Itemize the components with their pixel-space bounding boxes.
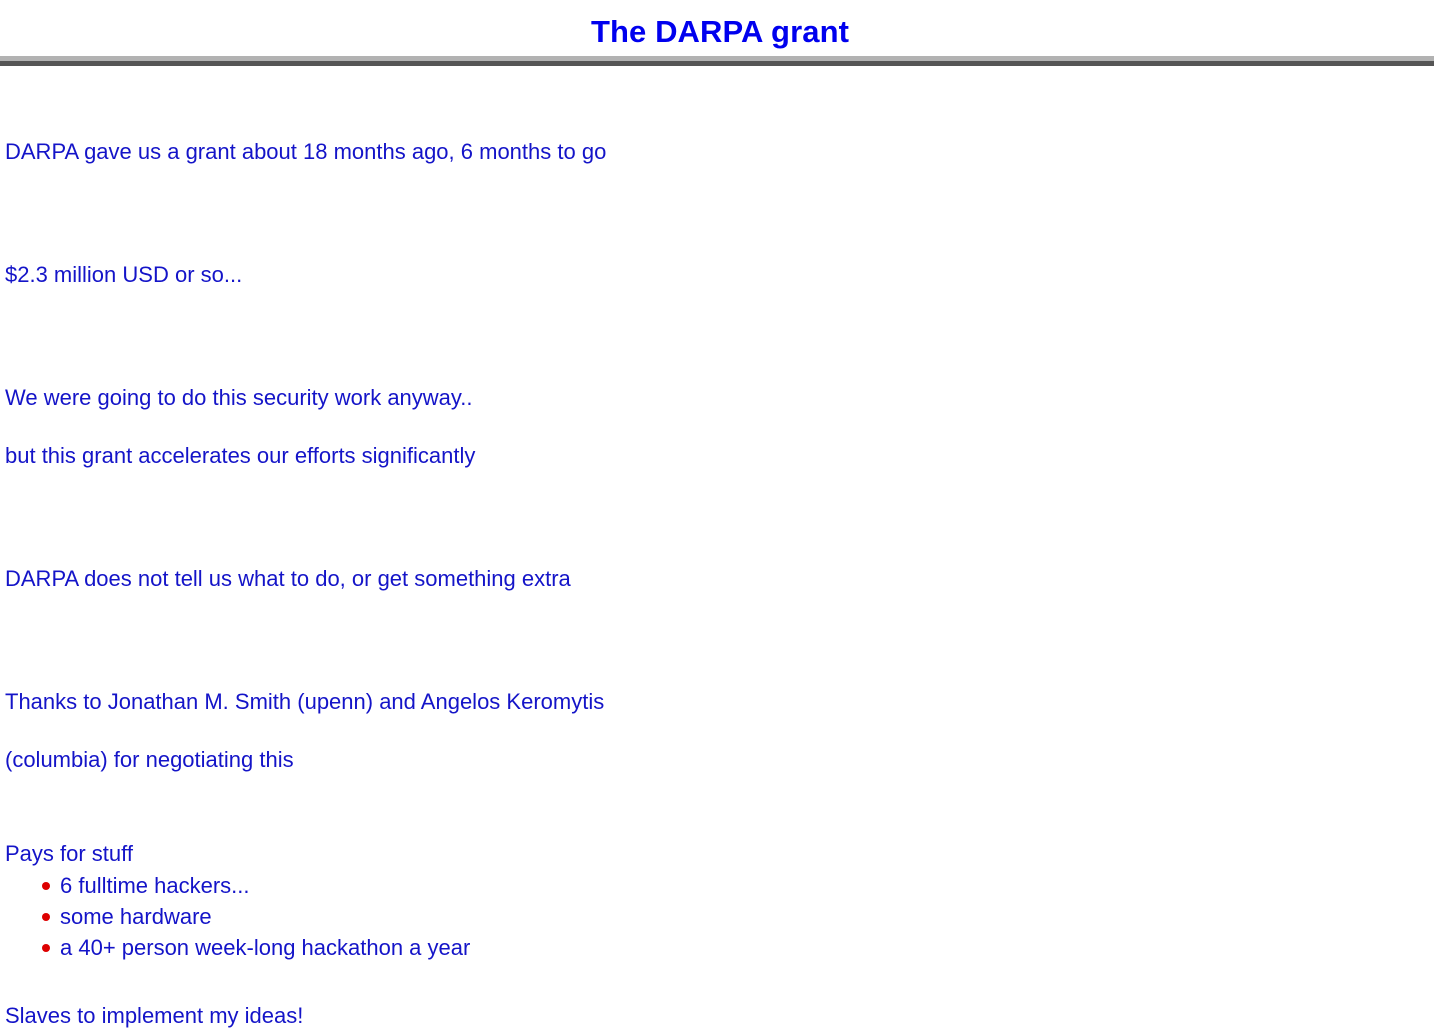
paragraph-no-direction: DARPA does not tell us what to do, or ge… xyxy=(5,535,1425,622)
paragraph-grant-amount: $2.3 million USD or so... xyxy=(5,231,1425,318)
red-dot-bullet-icon xyxy=(42,913,50,921)
list-item-label: some hardware xyxy=(60,904,212,929)
paragraph-line: Thanks to Jonathan M. Smith (upenn) and … xyxy=(5,687,1425,716)
page-title: The DARPA grant xyxy=(0,14,1440,50)
paragraph-line: DARPA does not tell us what to do, or ge… xyxy=(5,564,1425,593)
slide-content: DARPA gave us a grant about 18 months ag… xyxy=(5,108,1425,1030)
paragraph-line: (columbia) for negotiating this xyxy=(5,745,1425,774)
closing-line: Slaves to implement my ideas! xyxy=(5,1001,1425,1030)
title-divider xyxy=(0,56,1434,67)
paragraph-security-work: We were going to do this security work a… xyxy=(5,354,1425,499)
list-item: some hardware xyxy=(5,901,1425,932)
slide-page: { "slide": { "title": "The DARPA grant",… xyxy=(0,0,1440,900)
list-item: a 40+ person week-long hackathon a year xyxy=(5,932,1425,963)
list-heading: Pays for stuff xyxy=(5,839,1425,868)
paragraph-thanks: Thanks to Jonathan M. Smith (upenn) and … xyxy=(5,658,1425,803)
paragraph-line: DARPA gave us a grant about 18 months ag… xyxy=(5,137,1425,166)
red-dot-bullet-icon xyxy=(42,944,50,952)
paragraph-grant-duration: DARPA gave us a grant about 18 months ag… xyxy=(5,108,1425,195)
paragraph-line: but this grant accelerates our efforts s… xyxy=(5,441,1425,470)
pays-for-stuff-section: Pays for stuff 6 fulltime hackers... som… xyxy=(5,839,1425,963)
list-item-label: 6 fulltime hackers... xyxy=(60,873,250,898)
paragraph-line: $2.3 million USD or so... xyxy=(5,260,1425,289)
bullet-list: 6 fulltime hackers... some hardware a 40… xyxy=(5,870,1425,963)
red-dot-bullet-icon xyxy=(42,882,50,890)
list-item-label: a 40+ person week-long hackathon a year xyxy=(60,935,470,960)
divider-shadow-band xyxy=(0,61,1434,66)
list-item: 6 fulltime hackers... xyxy=(5,870,1425,901)
paragraph-line: We were going to do this security work a… xyxy=(5,383,1425,412)
